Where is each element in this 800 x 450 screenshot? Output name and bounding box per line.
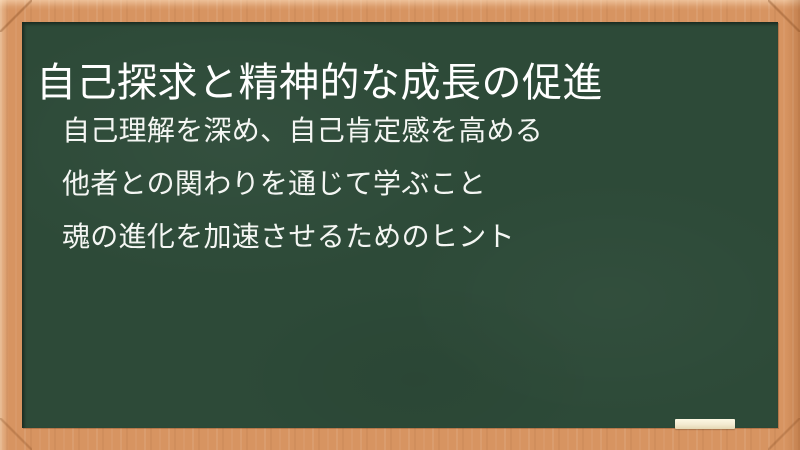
bullet-item-3: 魂の進化を加速させるためのヒント (62, 210, 752, 263)
chalkboard-surface: 自己探求と精神的な成長の促進 自己理解を深め、自己肯定感を高める 他者との関わり… (22, 22, 778, 428)
chalkboard-slide: 自己探求と精神的な成長の促進 自己理解を深め、自己肯定感を高める 他者との関わり… (0, 0, 800, 450)
bullet-item-2: 他者との関わりを通じて学ぶこと (62, 157, 752, 210)
bullet-list: 自己理解を深め、自己肯定感を高める 他者との関わりを通じて学ぶこと 魂の進化を加… (62, 104, 752, 263)
chalk-icon (675, 419, 735, 429)
bullet-item-1: 自己理解を深め、自己肯定感を高める (62, 104, 752, 157)
slide-title: 自己探求と精神的な成長の促進 (36, 57, 756, 109)
